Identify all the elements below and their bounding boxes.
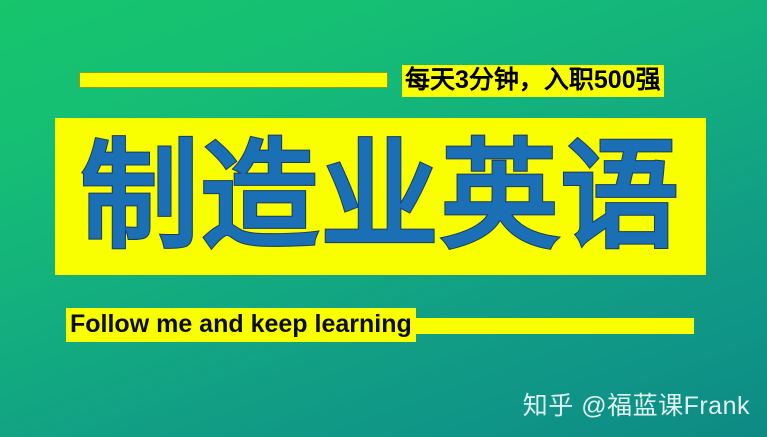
page-title: 制造业英语 xyxy=(55,118,706,275)
watermark-author: 知乎 @福蓝课Frank xyxy=(523,392,750,421)
top-tagline: 每天3分钟，入职500强 xyxy=(402,65,664,97)
poster-canvas: 每天3分钟，入职500强 制造业英语 Follow me and keep le… xyxy=(0,0,767,437)
bottom-decorative-bar xyxy=(414,318,694,334)
title-banner: 制造业英语 xyxy=(55,118,706,275)
top-decorative-bar xyxy=(79,72,388,88)
follow-cta-text: Follow me and keep learning xyxy=(66,308,416,342)
